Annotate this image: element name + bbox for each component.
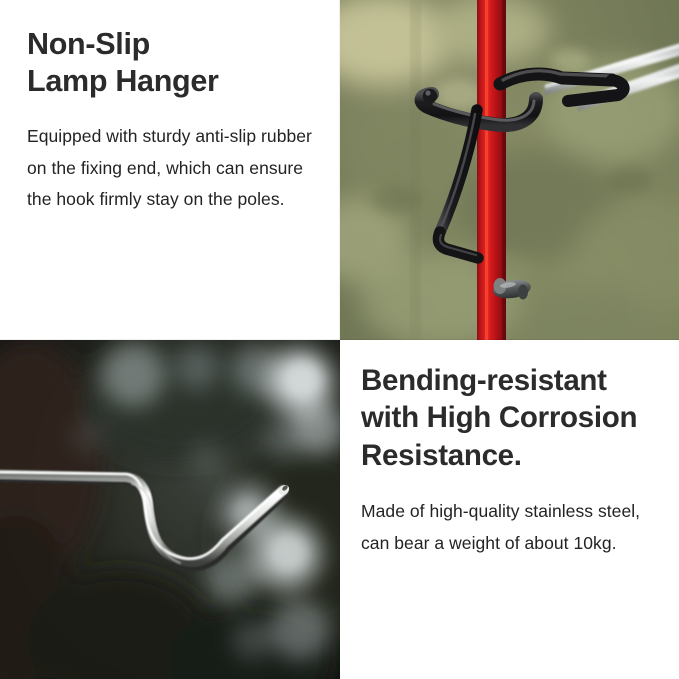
panel-bottom-left-photo [0, 340, 340, 679]
panel-top-left-text: Non-Slip Lamp Hanger Equipped with sturd… [0, 0, 340, 340]
panel-top-right-photo [340, 0, 679, 340]
top-left-headline: Non-Slip Lamp Hanger [27, 26, 327, 100]
product-infographic: Non-Slip Lamp Hanger Equipped with sturd… [0, 0, 679, 679]
panel-bottom-right-text: Bending-resistant with High Corrosion Re… [340, 340, 679, 679]
bottom-right-headline: Bending-resistant with High Corrosion Re… [361, 362, 667, 474]
bottom-right-body-text: Made of high-quality stainless steel, ca… [361, 496, 669, 558]
photo-stainless-steel-hook [0, 340, 340, 679]
top-left-body-text: Equipped with sturdy anti-slip rubber on… [27, 121, 327, 214]
photo-hook-on-red-pole [340, 0, 679, 340]
